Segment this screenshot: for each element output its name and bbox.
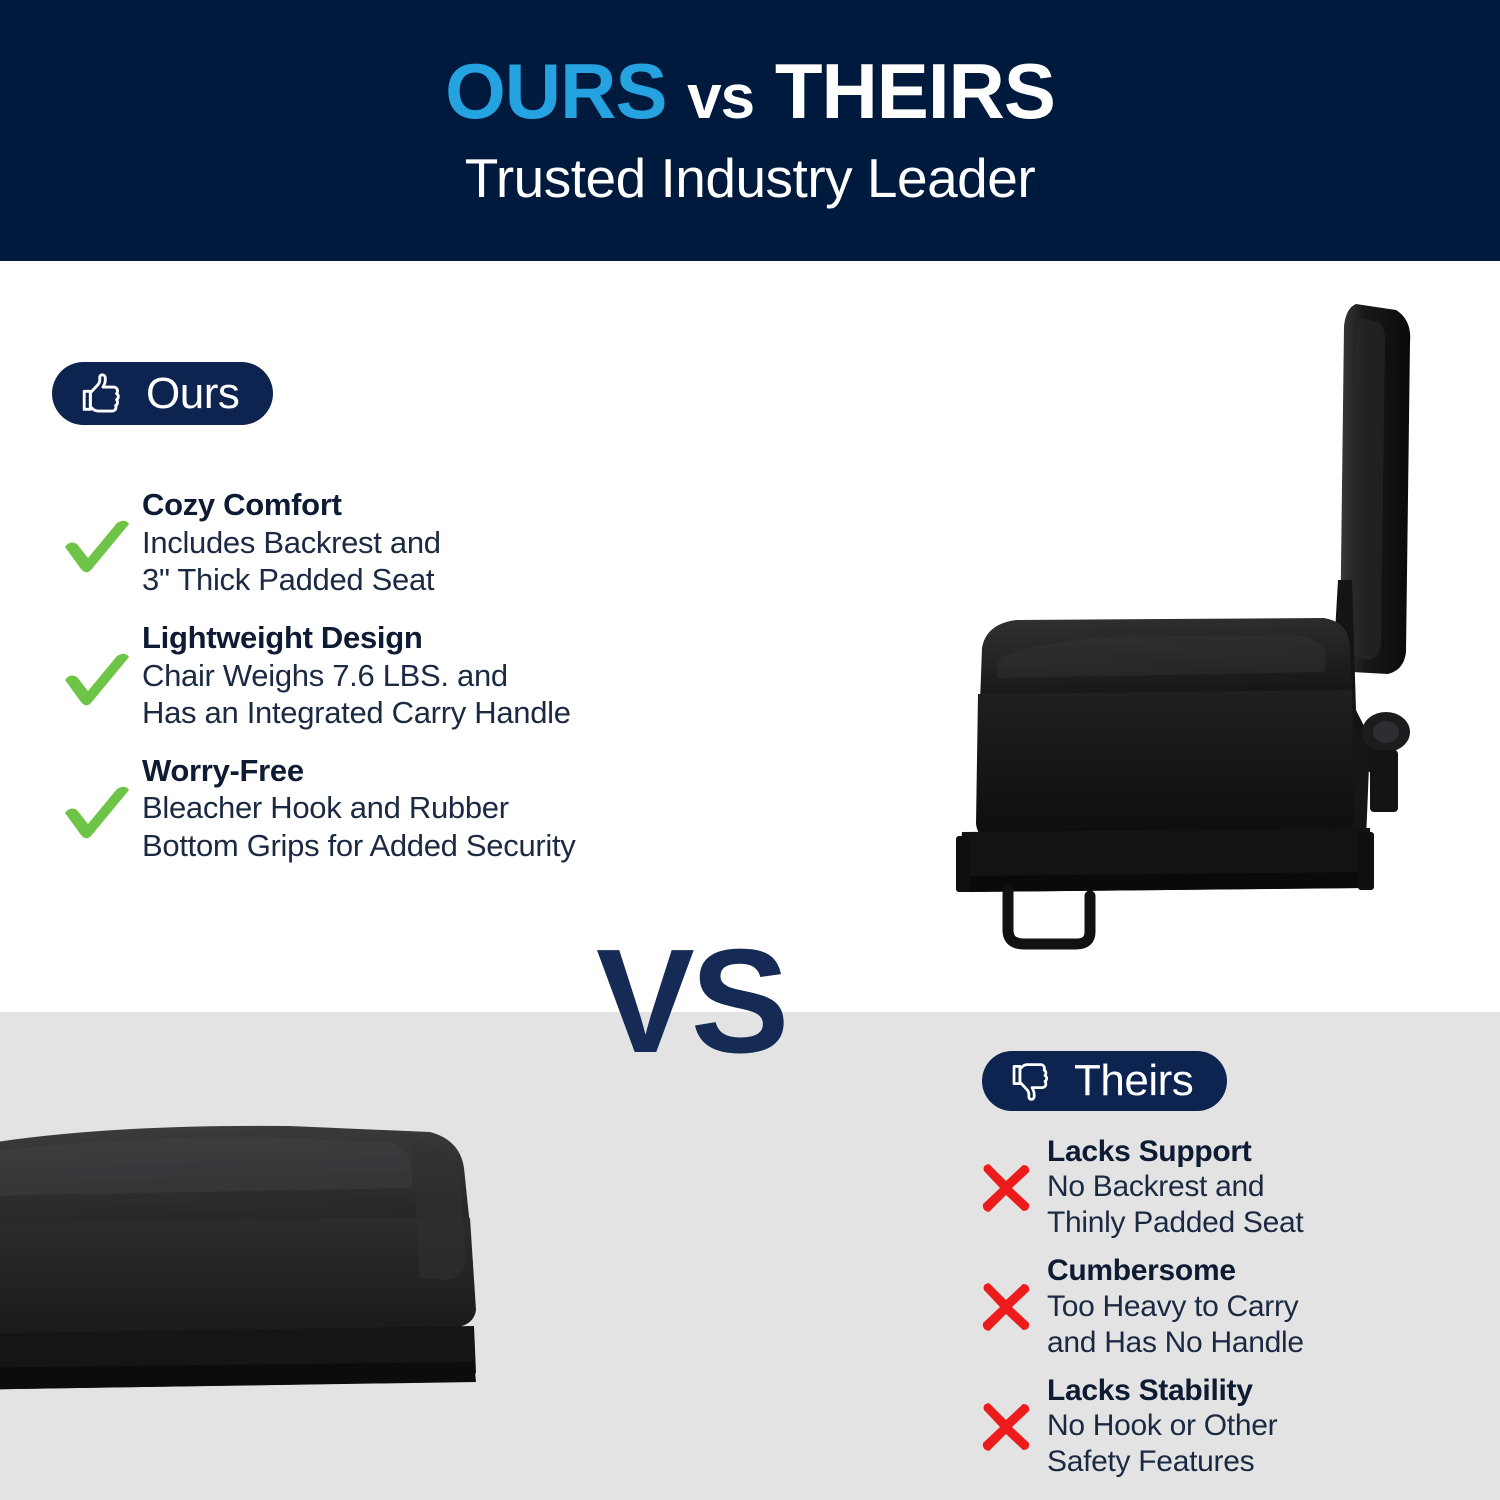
theirs-badge: Theirs	[982, 1051, 1227, 1111]
feature-text: Lightweight Design Chair Weighs 7.6 LBS.…	[142, 620, 670, 731]
feature-title: Worry-Free	[142, 753, 670, 790]
header-banner: OURS vs THEIRS Trusted Industry Leader	[0, 0, 1500, 261]
green-check-icon	[50, 620, 142, 708]
title-ours-word: OURS	[445, 47, 666, 135]
flat-seat-cushion-no-backrest-icon	[0, 1110, 580, 1440]
feature-title: Cozy Comfort	[142, 487, 670, 524]
feature-desc-line-1: No Backrest and	[1047, 1169, 1385, 1205]
stadium-seat-with-backrest-icon	[900, 280, 1500, 980]
list-item: Lacks Stability No Hook or Other Safety …	[965, 1373, 1385, 1480]
feature-desc-line-1: Includes Backrest and	[142, 524, 670, 561]
list-item: Cumbersome Too Heavy to Carry and Has No…	[965, 1253, 1385, 1360]
feature-desc-line-2: Has an Integrated Carry Handle	[142, 694, 670, 731]
theirs-badge-label: Theirs	[1074, 1059, 1193, 1103]
list-item: Cozy Comfort Includes Backrest and 3" Th…	[50, 487, 670, 598]
feature-text: Cozy Comfort Includes Backrest and 3" Th…	[142, 487, 670, 598]
feature-desc-line-1: No Hook or Other	[1047, 1408, 1385, 1444]
list-item: Worry-Free Bleacher Hook and Rubber Bott…	[50, 753, 670, 864]
feature-title: Lacks Support	[1047, 1134, 1385, 1169]
red-x-icon	[965, 1253, 1047, 1333]
list-item: Lightweight Design Chair Weighs 7.6 LBS.…	[50, 620, 670, 731]
ours-product-image	[900, 280, 1500, 980]
thumbs-down-icon	[1010, 1059, 1054, 1103]
green-check-icon	[50, 487, 142, 575]
feature-text: Worry-Free Bleacher Hook and Rubber Bott…	[142, 753, 670, 864]
ours-badge-label: Ours	[146, 372, 239, 416]
feature-title: Cumbersome	[1047, 1253, 1385, 1288]
red-x-icon	[965, 1373, 1047, 1453]
feature-text: Cumbersome Too Heavy to Carry and Has No…	[1047, 1253, 1385, 1360]
theirs-feature-list: Lacks Support No Backrest and Thinly Pad…	[965, 1134, 1385, 1492]
page-title: OURS vs THEIRS	[445, 52, 1055, 130]
feature-desc-line-1: Chair Weighs 7.6 LBS. and	[142, 657, 670, 694]
feature-desc-line-1: Too Heavy to Carry	[1047, 1289, 1385, 1325]
red-x-icon	[965, 1134, 1047, 1214]
title-theirs-word: THEIRS	[775, 47, 1055, 135]
title-vs-word: vs	[687, 63, 754, 132]
comparison-infographic: OURS vs THEIRS Trusted Industry Leader	[0, 0, 1500, 1500]
ours-badge: Ours	[52, 362, 273, 425]
feature-desc-line-2: Safety Features	[1047, 1444, 1385, 1480]
feature-desc-line-2: Bottom Grips for Added Security	[142, 827, 670, 864]
green-check-icon	[50, 753, 142, 841]
feature-title: Lacks Stability	[1047, 1373, 1385, 1408]
feature-desc-line-2: and Has No Handle	[1047, 1325, 1385, 1361]
feature-text: Lacks Support No Backrest and Thinly Pad…	[1047, 1134, 1385, 1241]
ours-feature-list: Cozy Comfort Includes Backrest and 3" Th…	[50, 487, 670, 886]
feature-text: Lacks Stability No Hook or Other Safety …	[1047, 1373, 1385, 1480]
theirs-product-image	[0, 1110, 580, 1440]
vs-divider-label: VS	[596, 928, 785, 1076]
feature-desc-line-2: Thinly Padded Seat	[1047, 1205, 1385, 1241]
header-subtitle: Trusted Industry Leader	[465, 146, 1035, 210]
feature-title: Lightweight Design	[142, 620, 670, 657]
feature-desc-line-1: Bleacher Hook and Rubber	[142, 789, 670, 826]
thumbs-up-icon	[80, 371, 126, 417]
feature-desc-line-2: 3" Thick Padded Seat	[142, 561, 670, 598]
list-item: Lacks Support No Backrest and Thinly Pad…	[965, 1134, 1385, 1241]
